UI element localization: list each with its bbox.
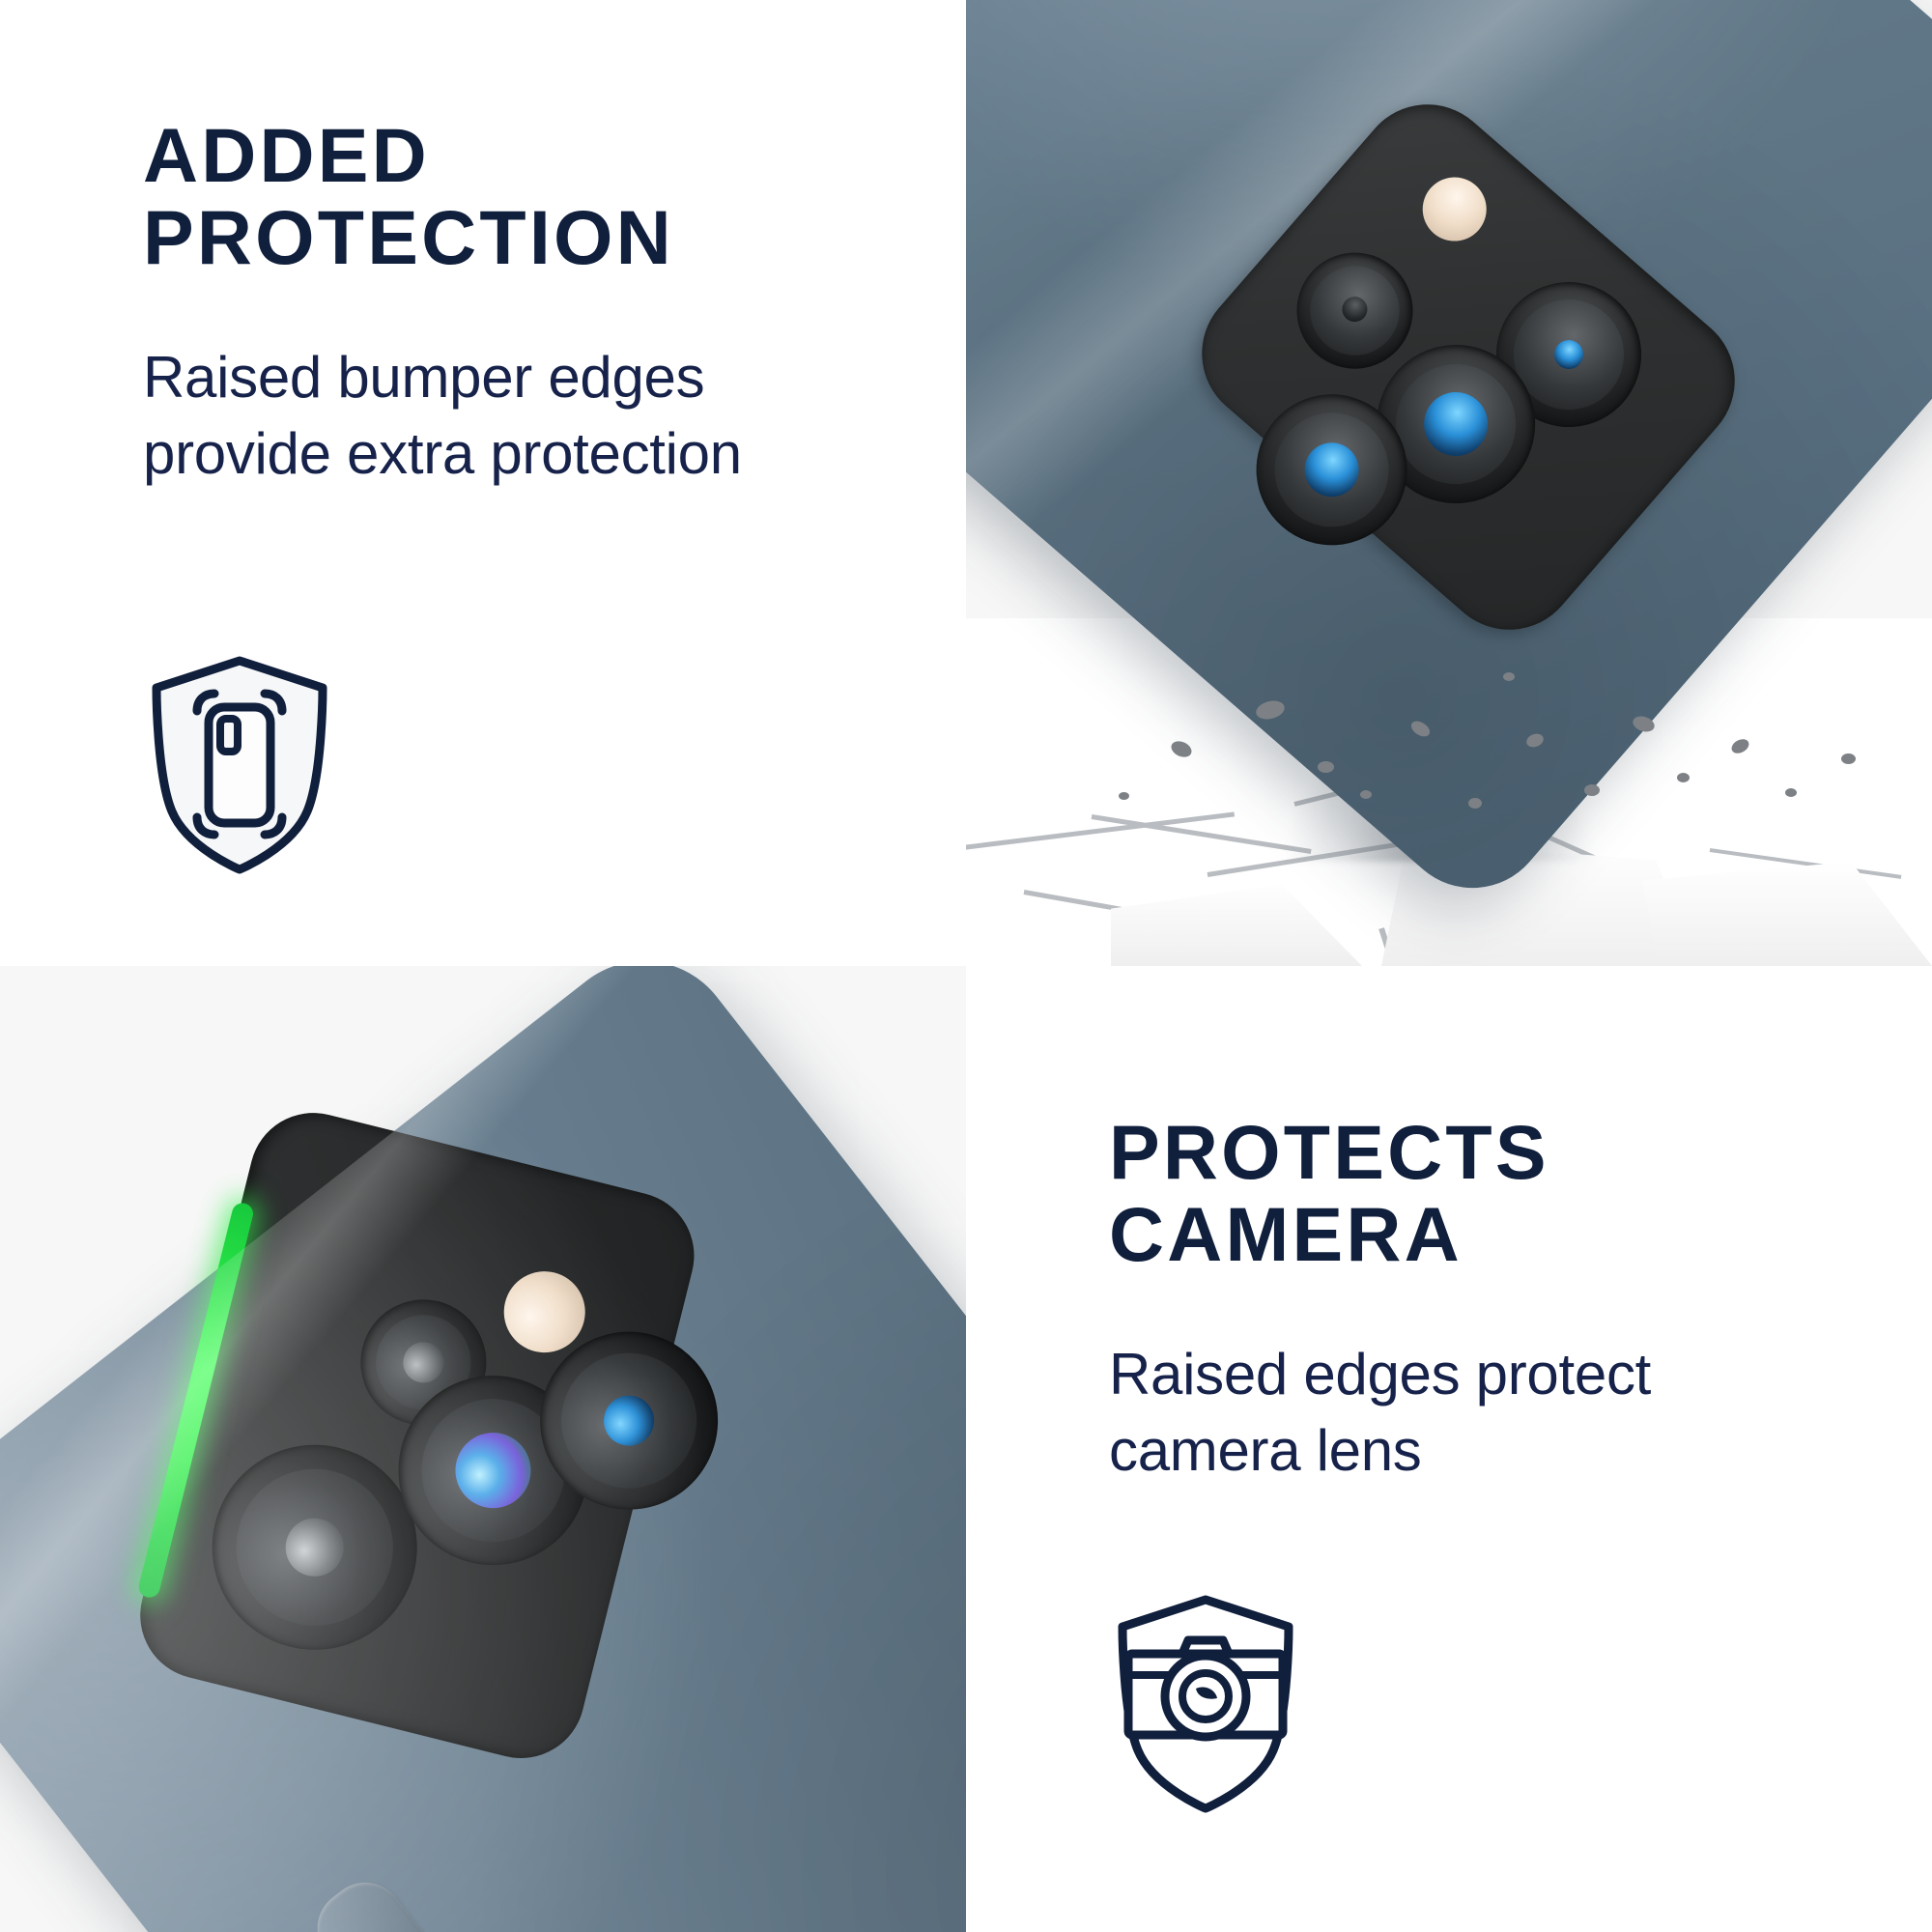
- photo-drop-impact: [966, 0, 1932, 966]
- volume-up-button: +: [301, 1867, 467, 1932]
- phone-case-body: + | ⏻: [0, 966, 966, 1932]
- product-feature-collage: ADDED PROTECTION Raised bumper edges pro…: [0, 0, 1932, 1932]
- drop-impact-scene: [966, 0, 1932, 966]
- panel-protects-camera: PROTECTS CAMERA Raised edges protect cam…: [966, 966, 1932, 1932]
- shield-phone-icon: [143, 653, 336, 877]
- heading-line-1: PROTECTS: [1109, 1111, 1864, 1193]
- added-protection-heading: ADDED PROTECTION: [143, 114, 898, 279]
- camera-island: [127, 1099, 707, 1772]
- shield-camera-icon: [1109, 1592, 1302, 1816]
- camera-flash: [1409, 164, 1499, 254]
- protects-camera-text-block: PROTECTS CAMERA Raised edges protect cam…: [1109, 1111, 1864, 1489]
- camera-lens-3: [379, 1355, 609, 1585]
- added-protection-body: Raised bumper edges provide extra protec…: [143, 279, 838, 492]
- added-protection-text-block: ADDED PROTECTION Raised bumper edges pro…: [143, 114, 898, 492]
- heading-line-2: PROTECTION: [143, 196, 898, 278]
- heading-line-1: ADDED: [143, 114, 898, 196]
- led-indicator: [136, 1201, 255, 1600]
- protects-camera-heading: PROTECTS CAMERA: [1109, 1111, 1864, 1276]
- protects-camera-body: Raised edges protect camera lens: [1109, 1276, 1843, 1489]
- heading-line-2: CAMERA: [1109, 1193, 1864, 1275]
- camera-lens-1: [190, 1423, 439, 1671]
- camera-lens-2: [348, 1287, 500, 1439]
- camera-closeup-scene: + | ⏻: [0, 966, 966, 1932]
- photo-camera-closeup: + | ⏻: [0, 966, 966, 1932]
- camera-lens-4: [522, 1313, 737, 1528]
- camera-flash: [496, 1263, 594, 1361]
- panel-added-protection: ADDED PROTECTION Raised bumper edges pro…: [0, 0, 966, 966]
